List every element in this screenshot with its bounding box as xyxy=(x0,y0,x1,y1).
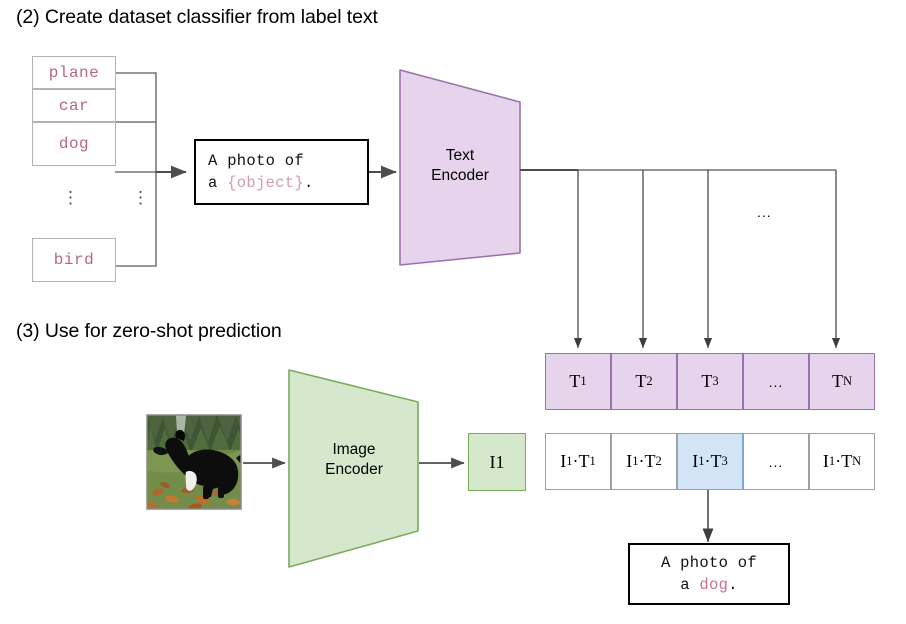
text-embedding-cell-1[interactable]: T1 xyxy=(545,353,611,410)
diagram-vector-layer xyxy=(0,0,906,624)
label-box-plane[interactable]: plane xyxy=(32,56,116,89)
step-3-title: (3) Use for zero-shot prediction xyxy=(16,320,282,343)
image-embedding-sub: 1 xyxy=(496,452,505,473)
label-box-bird[interactable]: bird xyxy=(32,238,116,282)
similarity-cell-1-t: T xyxy=(579,451,590,472)
similarity-cell-3-tsub: 3 xyxy=(722,454,728,469)
similarity-cell-n-t: T xyxy=(841,451,852,472)
similarity-cell-1[interactable]: I1·T1 xyxy=(545,433,611,490)
text-embedding-cell-1-sub: 1 xyxy=(580,374,586,389)
result-predicted-label: dog xyxy=(699,576,728,594)
similarity-cell-2[interactable]: I1·T2 xyxy=(611,433,677,490)
similarity-cell-3-selected[interactable]: I1·T3 xyxy=(677,433,743,490)
prompt-line-1: A photo of xyxy=(208,150,304,172)
text-embedding-cell-n[interactable]: TN xyxy=(809,353,875,410)
label-bracket-lines xyxy=(115,73,156,266)
similarity-cell-1-tsub: 1 xyxy=(590,454,596,469)
result-line-1: A photo of xyxy=(661,552,757,574)
text-encoder-shape xyxy=(400,70,520,265)
similarity-cell-2-tsub: 2 xyxy=(656,454,662,469)
prediction-result-box[interactable]: A photo of a dog. xyxy=(628,543,790,605)
step-2-title: (2) Create dataset classifier from label… xyxy=(16,6,378,29)
label-box-dog[interactable]: dog xyxy=(32,122,116,166)
result-line-2: a dog. xyxy=(680,574,738,596)
similarity-cell-3-t: T xyxy=(711,451,722,472)
prompt-line-2-prefix: a xyxy=(208,174,227,192)
text-embedding-cell-2-sub: 2 xyxy=(646,374,652,389)
similarity-cell-2-t: T xyxy=(645,451,656,472)
result-line-2-prefix: a xyxy=(680,576,699,594)
label-box-car[interactable]: car xyxy=(32,89,116,122)
result-line-2-suffix: . xyxy=(728,576,738,594)
image-embedding-box[interactable]: I1 xyxy=(468,433,526,491)
input-photo xyxy=(145,414,249,512)
text-embedding-cell-3[interactable]: T3 xyxy=(677,353,743,410)
similarity-cell-n-tsub: N xyxy=(852,454,861,469)
similarity-cell-n[interactable]: I1·TN xyxy=(809,433,875,490)
prompt-template-box[interactable]: A photo of a {object}. xyxy=(194,139,369,205)
fanout-ellipsis: ... xyxy=(757,204,772,220)
image-encoder-shape xyxy=(289,370,418,567)
prompt-line-2-suffix: . xyxy=(304,174,314,192)
label-list-vertical-ellipsis: ⋮ xyxy=(62,196,76,200)
text-embedding-cell-ellipsis: ... xyxy=(743,353,809,410)
similarity-cell-ellipsis: ... xyxy=(743,433,809,490)
diagram-canvas: (2) Create dataset classifier from label… xyxy=(0,0,906,624)
text-embedding-arrows xyxy=(578,170,836,348)
text-embedding-cell-n-base: T xyxy=(832,371,843,392)
prompt-line-2: a {object}. xyxy=(208,172,314,194)
text-embedding-cell-n-sub: N xyxy=(843,374,852,389)
text-embedding-cell-2-base: T xyxy=(635,371,646,392)
text-embedding-cell-3-sub: 3 xyxy=(712,374,718,389)
bracket-vertical-ellipsis: ⋮ xyxy=(132,196,146,200)
text-embedding-cell-3-base: T xyxy=(701,371,712,392)
text-embedding-cell-1-base: T xyxy=(569,371,580,392)
text-embedding-cell-2[interactable]: T2 xyxy=(611,353,677,410)
prompt-object-token: {object} xyxy=(227,174,304,192)
